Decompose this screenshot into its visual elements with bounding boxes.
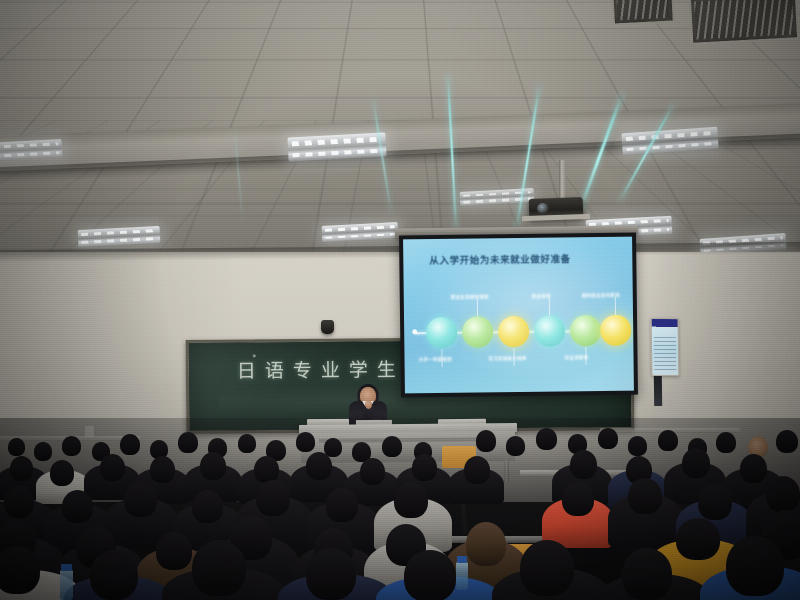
audience-head <box>0 546 40 594</box>
audience-head <box>676 518 720 560</box>
poster-text-lines <box>654 337 676 372</box>
audience-head <box>716 432 736 453</box>
audience-head <box>536 428 557 450</box>
audience-head <box>4 486 34 518</box>
audience-head <box>306 548 356 600</box>
audience-head <box>506 436 525 456</box>
audience-head <box>394 482 428 518</box>
slide-title: 从入学开始为未来就业做好准备 <box>429 251 571 267</box>
timeline-node-3 <box>498 316 529 347</box>
audience-head <box>326 488 358 522</box>
audience-head <box>698 484 732 520</box>
water-bottle-cap <box>457 556 467 563</box>
audience-head <box>150 456 175 483</box>
timeline-label-1: 大学一年级规划 <box>419 357 452 363</box>
timeline-stem-4-up <box>549 298 551 316</box>
water-bottle <box>456 562 468 590</box>
audience-head <box>178 432 198 453</box>
audience-head <box>120 434 140 455</box>
timeline-node-5 <box>570 315 601 346</box>
audience-head <box>776 430 798 453</box>
audience-head <box>412 454 437 481</box>
presenter-hand <box>365 400 372 409</box>
water-bottle <box>60 570 73 600</box>
timeline-label-6: 顺利就业走向职场 <box>582 293 620 299</box>
air-conditioning-diffuser-icon <box>689 0 799 45</box>
audience-head <box>520 540 574 596</box>
audience-head <box>34 442 52 461</box>
timeline-node-1 <box>426 317 457 348</box>
audience-head <box>62 436 81 456</box>
audience-head <box>124 482 157 517</box>
audience-head <box>466 522 506 566</box>
wall-notice-poster <box>651 318 680 376</box>
audience-head <box>476 430 496 452</box>
audience-head <box>562 482 594 516</box>
water-bottle-cap <box>61 564 72 571</box>
audience-head <box>50 460 74 486</box>
audience-head <box>360 458 385 485</box>
audience-head <box>296 432 315 452</box>
audience-head <box>740 454 767 483</box>
audience-head <box>726 536 784 596</box>
audience-head <box>100 454 125 481</box>
audience-head <box>682 448 710 478</box>
audience-head <box>62 490 93 523</box>
audience-head <box>570 450 597 479</box>
audience-head <box>622 548 672 600</box>
audience-head <box>10 456 33 481</box>
audience-head <box>238 434 256 453</box>
projection-screen: 从入学开始为未来就业做好准备 大学一年级规划 职业生涯规划课程 实习实践能力培养… <box>403 237 634 394</box>
audience-head <box>464 456 490 484</box>
audience-head <box>404 550 456 600</box>
vent-slats-2 <box>616 0 669 20</box>
air-conditioning-diffuser-icon-2 <box>611 0 675 26</box>
audience-head <box>766 476 800 512</box>
timeline-stem-6-up <box>615 297 617 315</box>
audience-head <box>628 436 647 456</box>
audience-head <box>192 540 246 596</box>
timeline-label-5: 毕业求职季 <box>564 355 588 361</box>
timeline-endcap-left <box>412 329 417 334</box>
timeline-node-2 <box>462 316 493 347</box>
timeline-label-2: 职业生涯规划课程 <box>451 294 489 300</box>
audience-head <box>598 428 618 449</box>
wall-notice-poster-secondary <box>654 376 662 406</box>
audience-head <box>90 550 138 600</box>
timeline-node-4 <box>534 315 565 346</box>
timeline-label-4: 就业指导 <box>532 294 551 300</box>
audience-head <box>192 490 223 523</box>
wall-mounted-device-icon <box>321 320 334 334</box>
audience-head <box>254 456 279 483</box>
vent-slats <box>694 0 794 40</box>
audience-head <box>200 452 226 480</box>
projection-screen-frame: 从入学开始为未来就业做好准备 大学一年级规划 职业生涯规划课程 实习实践能力培养… <box>399 233 638 398</box>
audience-head <box>628 478 662 514</box>
timeline-node-6 <box>600 315 631 346</box>
audience-head <box>256 480 290 516</box>
audience-head <box>382 436 402 457</box>
ceiling-light-fixture <box>287 132 386 161</box>
timeline-stem-2-up <box>477 298 479 316</box>
audience-head <box>156 532 192 570</box>
student-audience <box>0 418 800 600</box>
audience-head <box>8 438 25 456</box>
timeline-label-3: 实习实践能力培养 <box>489 356 527 362</box>
lecture-hall-photo: 日语专业学生大会 从入学开始为未来就业做好准备 大学一年级规划 职业生涯规划课程… <box>0 0 800 600</box>
audience-head <box>306 452 332 480</box>
audience-head <box>658 430 678 451</box>
